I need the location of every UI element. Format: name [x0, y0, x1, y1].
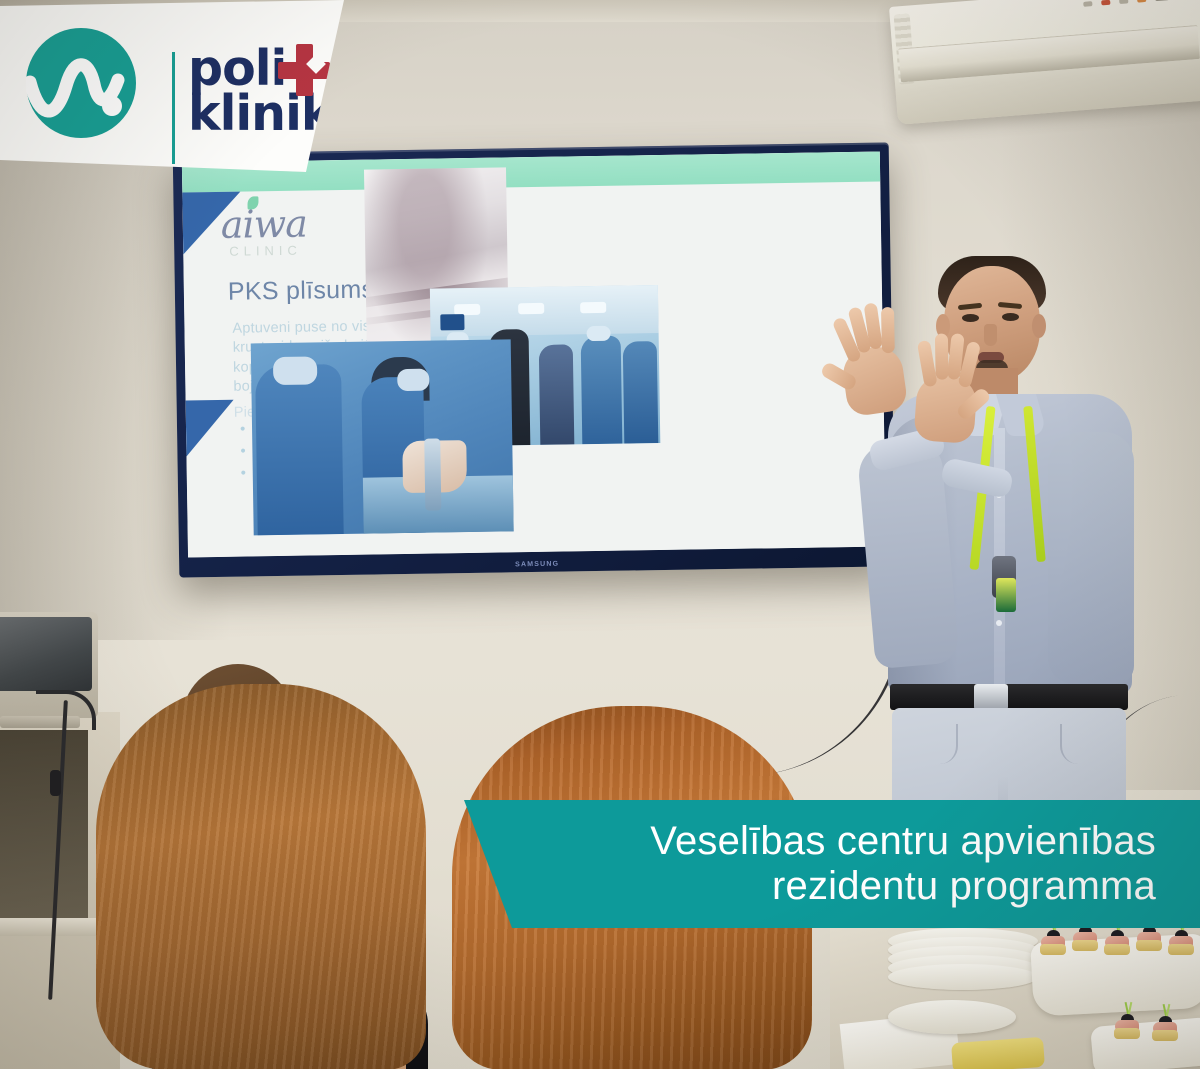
- banner-line-1: Veselības centru apvienības: [650, 819, 1156, 864]
- photo-scene: aiwa CLINIC PKS plīsums Aptuveni puse no…: [0, 0, 1200, 1069]
- canape: [1072, 926, 1098, 952]
- title-banner: Veselības centru apvienības rezidentu pr…: [448, 800, 1200, 928]
- slide-logo: aiwa: [221, 205, 308, 244]
- attendee-long-hair-left: [96, 684, 426, 1069]
- canape: [1104, 930, 1130, 956]
- presenter-badge: [996, 578, 1016, 612]
- stacked-plates: [888, 928, 1038, 990]
- cable-ferrite-bead: [50, 770, 61, 796]
- brand-logo-panel: poli klinika: [0, 0, 352, 172]
- slide-corner-accent-mid: [186, 400, 235, 457]
- slide-logo-text: aiwa: [220, 202, 307, 247]
- slide-title: PKS plīsums: [228, 276, 375, 307]
- slide-logo-subtext: CLINIC: [229, 243, 302, 259]
- display-screen: aiwa CLINIC PKS plīsums Aptuveni puse no…: [182, 152, 886, 558]
- banner-line-2: rezidentu programma: [650, 864, 1156, 909]
- canape: [1114, 1014, 1140, 1040]
- canape: [1168, 930, 1194, 956]
- presenter-belt: [890, 684, 1128, 710]
- presenter-belt-buckle: [974, 684, 1008, 710]
- banner-text: Veselības centru apvienības rezidentu pr…: [650, 819, 1200, 909]
- canape: [1136, 926, 1162, 952]
- logo-divider: [172, 52, 175, 164]
- vca-circle-mark-icon: [26, 28, 136, 138]
- medical-cross-icon: [278, 44, 330, 96]
- plate: [888, 1000, 1016, 1034]
- lemon-garnish: [951, 1037, 1045, 1069]
- canape: [1040, 930, 1066, 956]
- canape: [1152, 1016, 1178, 1042]
- display-brand-label: SAMSUNG: [515, 561, 559, 569]
- presentation-slide: aiwa CLINIC PKS plīsums Aptuveni puse no…: [182, 152, 886, 558]
- slide-photo-operating-room: [251, 339, 514, 535]
- brand-logo: poli klinika: [26, 28, 136, 138]
- presenter-arm-right: [1048, 432, 1134, 684]
- wall-mounted-display: aiwa CLINIC PKS plīsums Aptuveni puse no…: [173, 142, 896, 577]
